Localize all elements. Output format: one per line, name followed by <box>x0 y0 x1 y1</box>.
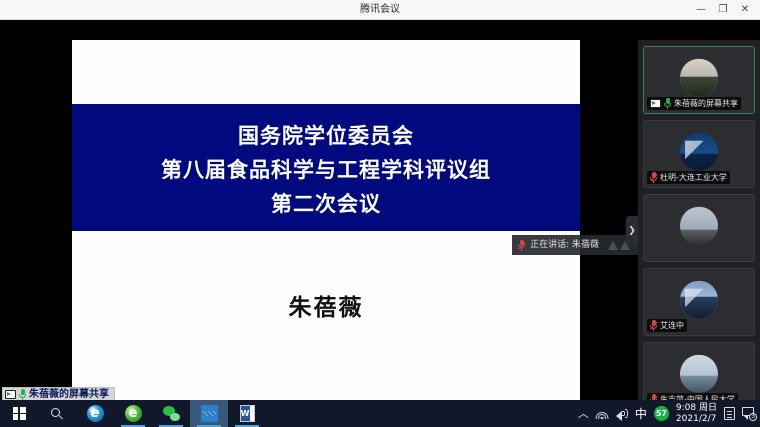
avatar <box>680 59 718 97</box>
edge-icon <box>125 405 142 422</box>
tencent-meeting-icon <box>201 405 218 422</box>
restore-button[interactable]: ❐ <box>712 0 734 20</box>
taskbar: ︿ 中 57 9:08 周日 2021/2/7 3 <box>0 400 760 427</box>
tencent-meeting-button[interactable] <box>190 400 228 427</box>
wifi-icon[interactable] <box>596 409 609 419</box>
slide-title-line-1: 国务院学位委员会 <box>238 119 414 153</box>
participant-tile[interactable]: 杜明-大连工业大学 <box>643 120 755 188</box>
clock[interactable]: 9:08 周日 2021/2/7 <box>676 403 717 425</box>
windows-logo-icon <box>13 407 26 420</box>
avatar <box>680 281 718 319</box>
notes-icon[interactable] <box>724 407 735 420</box>
mic-muted-icon <box>650 172 657 183</box>
mic-muted-icon <box>650 320 657 331</box>
avatar <box>680 133 718 171</box>
window-title: 腾讯会议 <box>0 0 760 20</box>
internet-explorer-icon <box>87 405 104 422</box>
participant-label: 艾连中 <box>647 319 687 332</box>
ime-indicator[interactable]: 中 <box>635 408 647 420</box>
participant-label: 杜明-大连工业大学 <box>647 171 730 184</box>
microsoft-edge-button[interactable] <box>114 400 152 427</box>
tray-overflow-button[interactable]: ︿ <box>578 408 589 419</box>
score-badge[interactable]: 57 <box>654 406 669 421</box>
active-speaker-text: 正在讲话: 朱蓓薇 <box>530 239 599 251</box>
participant-tile[interactable] <box>643 194 755 262</box>
slide-title-band: 国务院学位委员会 第八届食品科学与工程学科评议组 第二次会议 <box>72 104 580 231</box>
word-icon <box>240 405 255 422</box>
taskbar-items <box>0 400 266 427</box>
slide-title-line-2: 第八届食品科学与工程学科评议组 <box>161 153 491 187</box>
participant-tile[interactable]: 艾连中 <box>643 268 755 336</box>
slide-title-line-3: 第二次会议 <box>271 187 381 221</box>
mic-muted-icon <box>518 240 525 251</box>
participant-name: 杜明-大连工业大学 <box>660 173 727 183</box>
participant-name: 朱蓓薇的屏幕共享 <box>674 99 738 109</box>
participant-panel: ❯ 朱蓓薇的屏幕共享 杜明-大连工业大学 <box>638 40 760 420</box>
search-button[interactable] <box>38 400 76 427</box>
shared-slide: 国务院学位委员会 第八届食品科学与工程学科评议组 第二次会议 朱蓓薇 2021年… <box>72 40 580 420</box>
avatar <box>680 207 718 245</box>
desktop-background: 国务院学位委员会 第八届食品科学与工程学科评议组 第二次会议 朱蓓薇 2021年… <box>0 20 760 400</box>
screen-share-icon <box>5 390 16 399</box>
search-icon <box>51 408 63 420</box>
internet-explorer-button[interactable] <box>76 400 114 427</box>
minimize-button[interactable]: — <box>690 0 712 20</box>
system-tray: ︿ 中 57 9:08 周日 2021/2/7 3 <box>578 400 760 427</box>
slide-presenter-name: 朱蓓薇 <box>72 288 580 322</box>
participant-name: 艾连中 <box>660 321 684 331</box>
screen: 腾讯会议 — ❐ ✕ 国务院学位委员会 第八届食品科学与工程学科评议组 第二次会… <box>0 0 760 427</box>
window-titlebar: 腾讯会议 — ❐ ✕ <box>0 0 760 20</box>
wechat-button[interactable] <box>152 400 190 427</box>
microsoft-word-button[interactable] <box>228 400 266 427</box>
start-button[interactable] <box>0 400 38 427</box>
close-button[interactable]: ✕ <box>734 0 756 20</box>
screen-share-badge-label: 朱蓓薇的屏幕共享 <box>29 389 109 401</box>
avatar <box>680 355 718 393</box>
panel-collapse-button[interactable]: ❯ <box>626 216 638 246</box>
participant-label: 朱蓓薇的屏幕共享 <box>647 97 741 110</box>
mic-on-icon <box>664 98 671 109</box>
wechat-icon <box>163 406 180 421</box>
notification-icon[interactable]: 3 <box>742 407 756 420</box>
clock-date: 2021/2/7 <box>676 414 716 425</box>
window-controls: — ❐ ✕ <box>690 0 756 20</box>
mic-on-icon <box>19 389 26 400</box>
volume-icon[interactable] <box>616 408 628 419</box>
participant-tile[interactable]: 朱蓓薇的屏幕共享 <box>643 46 755 114</box>
active-speaker-banner: 正在讲话: 朱蓓薇 <box>512 235 638 255</box>
clock-time: 9:08 周日 <box>676 403 717 414</box>
screen-share-icon <box>650 99 661 108</box>
notification-count: 3 <box>749 413 757 421</box>
